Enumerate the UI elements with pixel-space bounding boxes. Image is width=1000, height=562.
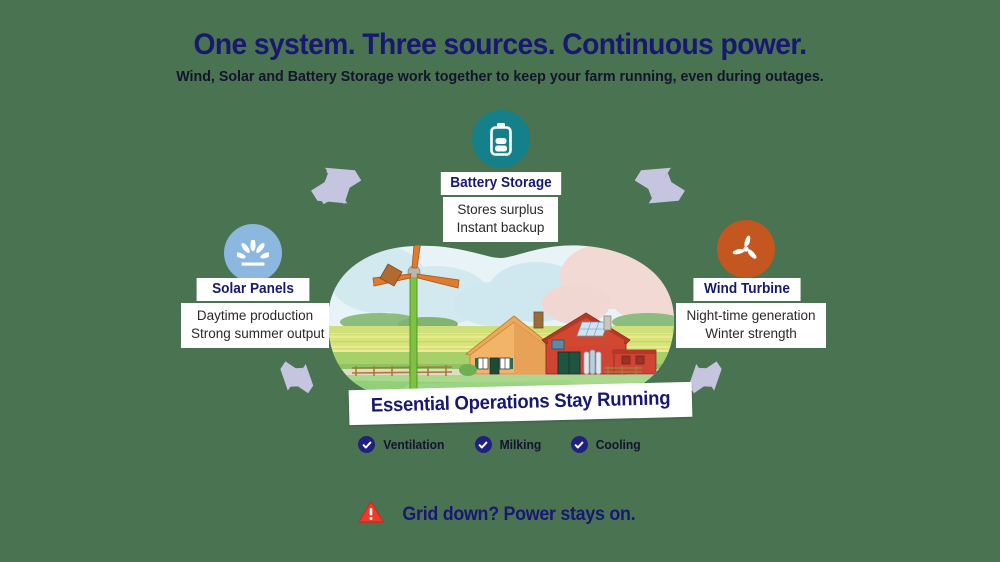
wind-turbine-desc: Night-time generation Winter strength: [676, 303, 826, 348]
double-arrow-icon: [306, 152, 382, 214]
check-icon: [571, 436, 588, 453]
checklist-label-cooling: Cooling: [595, 437, 640, 452]
battery-storage-desc-line1: Stores surplus: [453, 201, 548, 219]
footer-text: Grid down? Power stays on.: [402, 504, 635, 526]
battery-storage-desc: Stores surplus Instant backup: [443, 197, 558, 242]
checklist-item-milking: Milking: [475, 436, 543, 453]
check-icon: [475, 436, 492, 453]
battery-storage-desc-line2: Instant backup: [453, 219, 548, 237]
grid-down-footer: Grid down? Power stays on.: [0, 500, 1000, 529]
solar-panels-desc: Daytime production Strong summer output: [181, 303, 329, 348]
operations-checklist: Ventilation Milking Cooling: [0, 436, 1000, 453]
warning-triangle-icon: [358, 500, 384, 529]
farm-scene-illustration: [318, 234, 682, 406]
page-title: One system. Three sources. Continuous po…: [30, 28, 970, 62]
arrow-top-right: [614, 152, 690, 214]
farm-scene-svg: [318, 234, 682, 406]
checklist-label-milking: Milking: [499, 437, 541, 452]
arrow-top-left: [306, 152, 382, 214]
banner-label: Essential Operations Stay Running: [371, 387, 671, 417]
wind-turbine-title: Wind Turbine: [693, 278, 800, 301]
double-arrow-icon: [614, 152, 690, 214]
sun-rays-icon: [237, 240, 269, 266]
wind-turbine-icon-circle: [717, 220, 775, 278]
infographic-canvas: One system. Three sources. Continuous po…: [0, 0, 1000, 562]
check-icon: [358, 436, 375, 453]
checklist-label-ventilation: Ventilation: [383, 437, 444, 452]
essential-operations-banner: Essential Operations Stay Running: [349, 382, 693, 425]
solar-panels-title: Solar Panels: [197, 278, 310, 301]
page-subtitle: Wind, Solar and Battery Storage work tog…: [25, 68, 975, 85]
wind-turbine-desc-line2: Winter strength: [686, 325, 816, 343]
battery-storage-icon-circle: [472, 110, 530, 168]
checklist-item-cooling: Cooling: [571, 436, 642, 453]
checklist-item-ventilation: Ventilation: [358, 436, 447, 453]
battery-icon: [486, 122, 516, 156]
solar-panels-icon-circle: [224, 224, 282, 282]
wind-turbine-desc-line1: Night-time generation: [686, 307, 816, 325]
turbine-blades-icon: [730, 233, 762, 265]
battery-storage-title: Battery Storage: [441, 172, 561, 195]
solar-panels-desc-line2: Strong summer output: [191, 325, 319, 343]
solar-panels-desc-line1: Daytime production: [191, 307, 319, 325]
